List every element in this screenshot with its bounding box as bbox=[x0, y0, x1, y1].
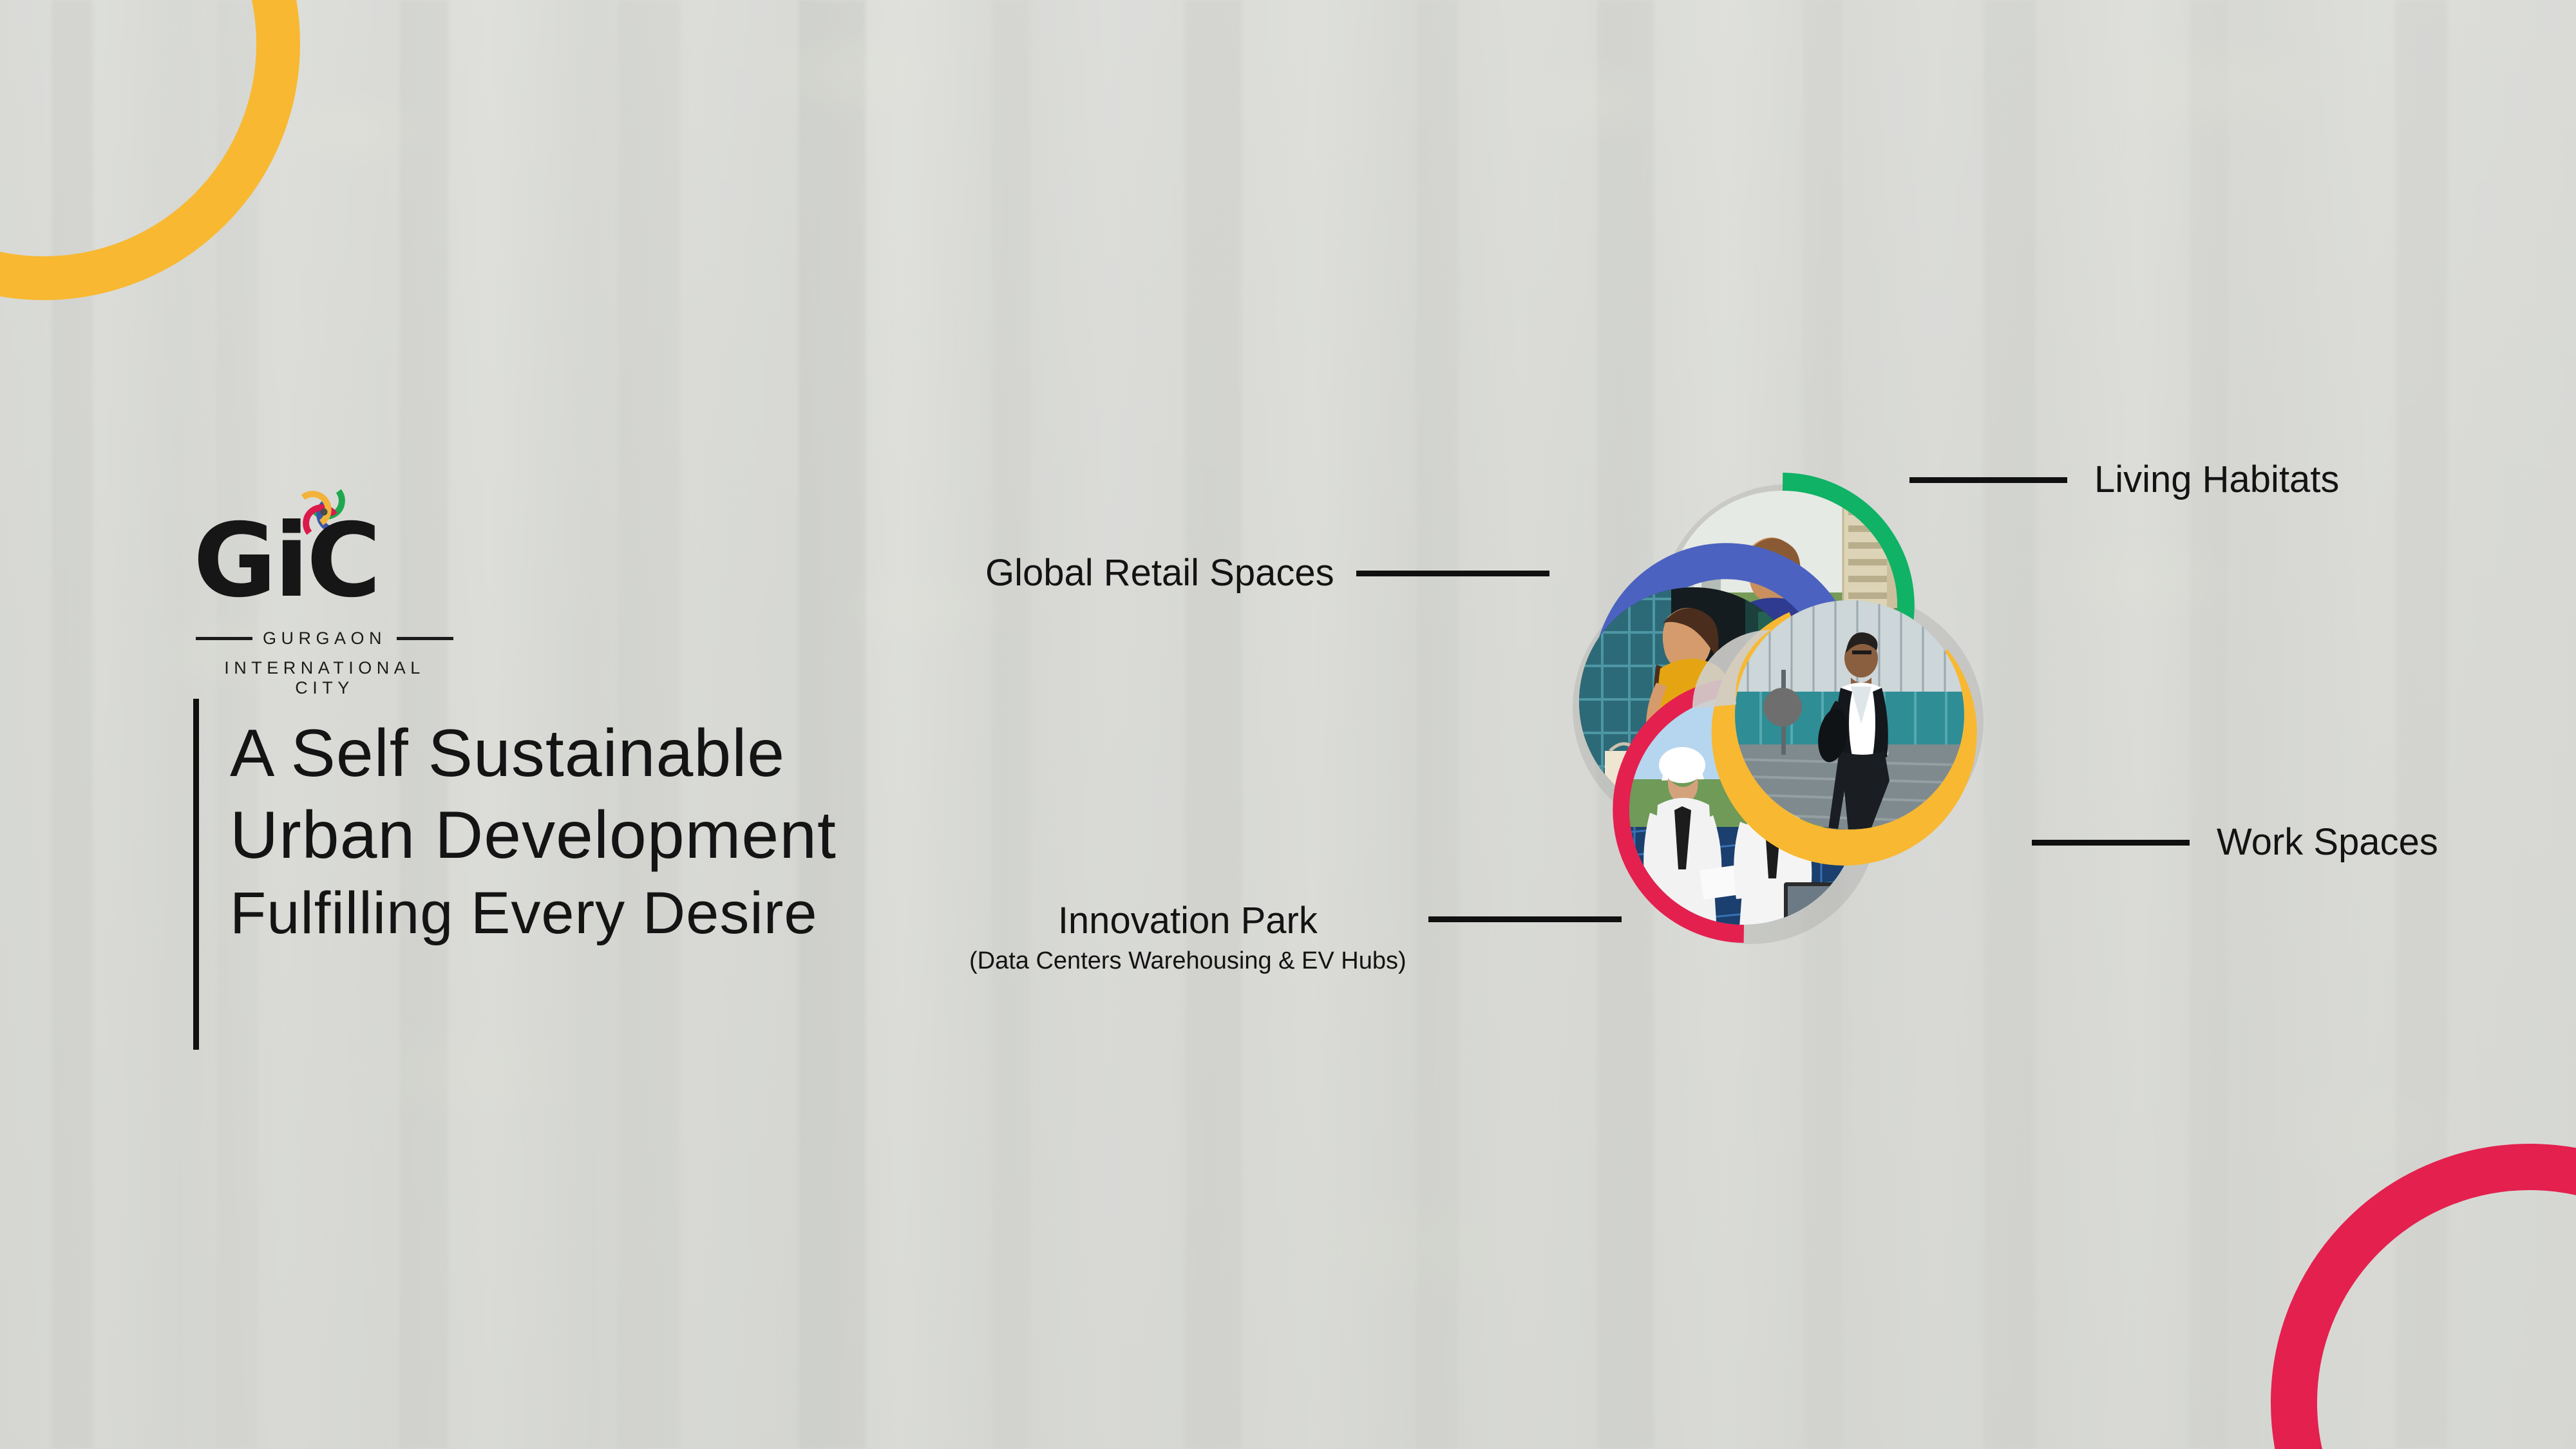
logo-rule-left bbox=[196, 637, 252, 640]
logo-wordmark: GiC bbox=[193, 510, 379, 612]
callout-global-retail-spaces[interactable]: Global Retail Spaces bbox=[985, 554, 1549, 593]
callout-innovation-park[interactable]: Innovation Park (Data Centers Warehousin… bbox=[969, 902, 1622, 975]
headline-line-3: Fulfilling Every Desire bbox=[230, 876, 837, 950]
gic-logo[interactable]: GiC GURGAON INTERNATIONAL CITY bbox=[193, 477, 464, 689]
logo-rule-right bbox=[397, 637, 453, 640]
headline-accent-bar bbox=[193, 699, 199, 1050]
callout-living-habitats[interactable]: Living Habitats bbox=[1909, 460, 2339, 500]
left-content-block: GiC GURGAON INTERNATIONAL CITY A Self Su… bbox=[193, 477, 1095, 689]
callout-leader-line bbox=[2032, 840, 2190, 846]
headline-text: A Self Sustainable Urban Development Ful… bbox=[230, 699, 837, 1050]
pinwheel-hub-dot bbox=[1763, 688, 1802, 726]
logo-subtitle-gurgaon: GURGAON bbox=[263, 629, 386, 649]
headline-block: A Self Sustainable Urban Development Ful… bbox=[193, 699, 837, 1050]
slide-canvas: GiC GURGAON INTERNATIONAL CITY A Self Su… bbox=[0, 0, 2576, 1449]
callout-label: Global Retail Spaces bbox=[985, 554, 1334, 593]
logo-subtitle-international-city: INTERNATIONAL CITY bbox=[196, 658, 453, 698]
headline-line-1: A Self Sustainable bbox=[230, 713, 837, 795]
logo-subtitle-row-1: GURGAON bbox=[196, 629, 453, 649]
callout-leader-line bbox=[1909, 477, 2067, 483]
callout-leader-line bbox=[1356, 571, 1549, 576]
callout-sublabel: (Data Centers Warehousing & EV Hubs) bbox=[969, 947, 1406, 975]
headline-line-2: Urban Development bbox=[230, 795, 837, 876]
callout-label: Work Spaces bbox=[2217, 823, 2438, 862]
callout-work-spaces[interactable]: Work Spaces bbox=[2032, 823, 2438, 862]
callout-label: Living Habitats bbox=[2094, 460, 2339, 500]
callout-innovation-stack: Innovation Park (Data Centers Warehousin… bbox=[969, 902, 1406, 975]
callout-label: Innovation Park bbox=[1058, 902, 1318, 941]
callout-leader-line bbox=[1428, 916, 1622, 922]
